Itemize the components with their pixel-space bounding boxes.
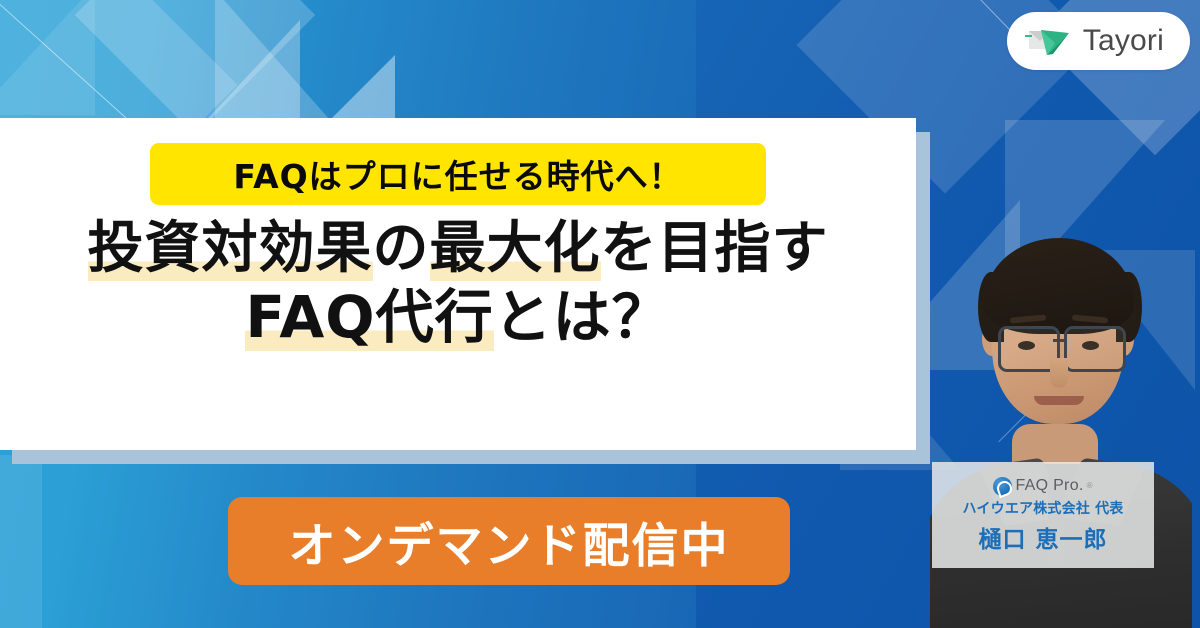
- photo-glasses-bridge: [1053, 339, 1067, 342]
- cta-banner[interactable]: オンデマンド配信中: [228, 497, 790, 585]
- photo-mouth: [1034, 396, 1084, 405]
- photo-hair: [984, 238, 1134, 334]
- tayori-envelope-plane-icon: [1025, 24, 1071, 58]
- tagline-badge-label: FAQはプロに任せる時代へ！: [233, 150, 682, 198]
- faq-pro-logo-text: FAQ Pro.: [1015, 478, 1083, 494]
- tayori-logo-text: Tayori: [1083, 26, 1164, 56]
- headline-plain-2: を目指す: [601, 216, 829, 281]
- decorative-left-edge-strip: [0, 455, 42, 628]
- headline-highlight-1: 投資対効果: [88, 216, 373, 281]
- presenter-name-plate: FAQ Pro. ® ハイウエア株式会社 代表 樋口 恵一郎: [932, 462, 1154, 568]
- decorative-triangle-top-left-5: [215, 0, 330, 120]
- headline-line-2: FAQ代行とは？: [0, 285, 916, 350]
- headline: 投資対効果の最大化を目指す FAQ代行とは？: [0, 218, 916, 350]
- presenter-name: 樋口 恵一郎: [978, 520, 1107, 554]
- faq-pro-logo: FAQ Pro. ®: [993, 477, 1092, 496]
- headline-highlight-2: 最大化: [430, 216, 601, 281]
- headline-plain-1: の: [373, 216, 430, 281]
- tagline-badge: FAQはプロに任せる時代へ！: [150, 143, 766, 205]
- tayori-logo[interactable]: Tayori: [1007, 12, 1190, 70]
- headline-highlight-3: FAQ代行: [245, 283, 493, 351]
- headline-plain-3: とは？: [494, 283, 671, 351]
- photo-glasses-lens-right: [1064, 326, 1126, 372]
- presenter-company: ハイウエア株式会社 代表: [963, 498, 1124, 518]
- faq-pro-registered-mark: ®: [1087, 482, 1093, 490]
- cta-label: オンデマンド配信中: [289, 507, 730, 576]
- photo-nose: [1050, 358, 1068, 388]
- promo-banner: FAQはプロに任せる時代へ！ 投資対効果の最大化を目指す FAQ代行とは？ オン…: [0, 0, 1200, 628]
- headline-line-1: 投資対効果の最大化を目指す: [0, 218, 916, 281]
- faq-pro-circle-icon: [993, 477, 1012, 496]
